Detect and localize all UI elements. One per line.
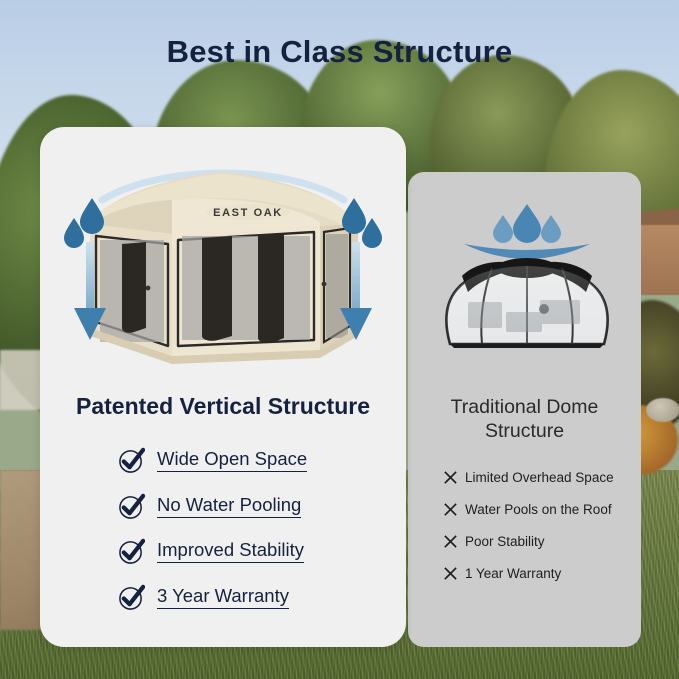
feature-item: 3 Year Warranty — [118, 584, 289, 611]
check-circle-icon — [118, 447, 145, 474]
feature-item: Wide Open Space — [118, 447, 307, 474]
drawback-item: Water Pools on the Roof — [443, 502, 612, 517]
drawback-item: Poor Stability — [443, 534, 545, 549]
x-mark-icon — [443, 566, 458, 581]
page-title: Best in Class Structure — [0, 34, 679, 70]
check-circle-icon — [118, 584, 145, 611]
patented-vertical-heading: Patented Vertical Structure — [40, 393, 406, 420]
vertical-clearance-indicator-left — [62, 196, 114, 349]
check-circle-icon — [118, 493, 145, 520]
x-mark-icon — [443, 470, 458, 485]
infographic-canvas: Best in Class Structure — [0, 0, 679, 679]
feature-item: Improved Stability — [118, 538, 304, 565]
traditional-dome-heading: Traditional Dome Structure — [413, 396, 636, 444]
feature-label: Wide Open Space — [157, 449, 307, 471]
feature-label: No Water Pooling — [157, 495, 301, 517]
x-mark-icon — [443, 502, 458, 517]
traditional-dome-illustration — [432, 196, 622, 366]
vertical-clearance-indicator-right — [332, 196, 384, 349]
x-mark-icon — [443, 534, 458, 549]
drawback-label: Poor Stability — [465, 534, 545, 549]
drawback-label: Water Pools on the Roof — [465, 502, 612, 517]
canopy-structure: EAST OAK — [88, 172, 358, 364]
feature-item: No Water Pooling — [118, 493, 301, 520]
garden-rock — [646, 398, 679, 422]
drawback-item: Limited Overhead Space — [443, 470, 614, 485]
heading-line-1: Traditional Dome — [451, 396, 599, 418]
drawback-item: 1 Year Warranty — [443, 566, 561, 581]
dome-tent-body — [446, 258, 607, 348]
check-circle-icon — [118, 538, 145, 565]
feature-label: Improved Stability — [157, 540, 304, 562]
drawback-label: Limited Overhead Space — [465, 470, 614, 485]
water-pooling-indicator — [464, 204, 590, 259]
feature-label: 3 Year Warranty — [157, 586, 289, 608]
heading-line-2: Structure — [485, 420, 564, 442]
brand-label: EAST OAK — [213, 207, 283, 219]
drawback-label: 1 Year Warranty — [465, 566, 561, 581]
